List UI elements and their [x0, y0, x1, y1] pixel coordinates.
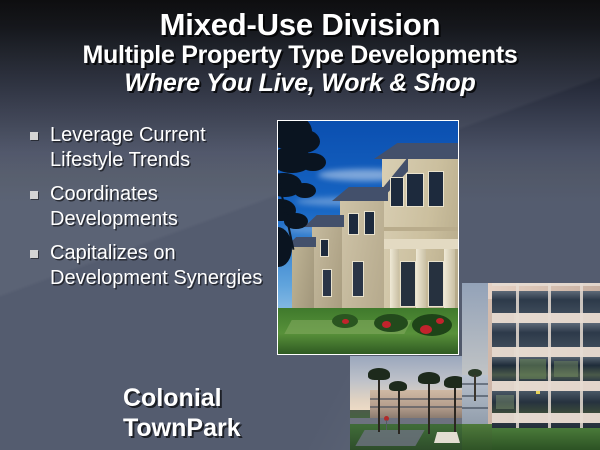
- townhomes-photo: [277, 120, 459, 355]
- photo-spandrel: [492, 347, 600, 357]
- photo-trim: [382, 227, 459, 231]
- photo-porch-beam: [382, 239, 459, 249]
- photo-spandrel: [492, 381, 600, 391]
- photo-flowers: [342, 319, 349, 324]
- palm-fronds: [418, 372, 440, 384]
- photo-window-band: [492, 323, 600, 347]
- palm-tree: [454, 382, 456, 434]
- photo-spandrel: [492, 413, 600, 423]
- photo-shrub: [374, 314, 408, 332]
- photo-window: [320, 239, 329, 257]
- palm-tree: [474, 375, 476, 401]
- title-line-primary: Mixed-Use Division: [0, 8, 600, 42]
- title-line-secondary: Multiple Property Type Developments: [0, 42, 600, 69]
- photo-glass-reflection: [496, 395, 514, 409]
- square-bullet-icon: [30, 191, 38, 199]
- photo-building-far: [312, 225, 342, 311]
- photo-walkway: [355, 430, 424, 446]
- photo-window: [406, 173, 424, 207]
- photo-light: [536, 391, 540, 394]
- photo-glass-reflection: [520, 359, 546, 379]
- bullet-text: Leverage Current Lifestyle Trends: [50, 123, 278, 173]
- palm-fronds: [368, 368, 390, 380]
- sign-post: [386, 420, 387, 430]
- photo-flowers: [382, 321, 391, 328]
- photo-window: [348, 213, 359, 235]
- palm-tree: [378, 374, 380, 432]
- photo-flowers: [436, 318, 444, 324]
- photo-window: [364, 211, 375, 235]
- photo-mullion: [516, 283, 519, 450]
- palm-tree: [398, 386, 400, 434]
- office-building-photo: [462, 283, 600, 450]
- slide-title-block: Mixed-Use Division Multiple Property Typ…: [0, 8, 600, 97]
- caption-line-1: Colonial: [123, 383, 241, 413]
- title-line-tagline: Where You Live, Work & Shop: [0, 69, 600, 97]
- photo-spandrel: [492, 313, 600, 323]
- photo-window-band: [492, 357, 600, 381]
- photo-flowers: [420, 325, 432, 334]
- monument-sign: [434, 432, 460, 443]
- tree-foliage: [294, 183, 316, 198]
- photo-spandrel: [492, 283, 600, 286]
- square-bullet-icon: [30, 132, 38, 140]
- tree-foliage: [300, 153, 326, 171]
- photo-window: [352, 261, 364, 297]
- photo-mullion: [580, 283, 583, 450]
- photo-mullion: [548, 283, 551, 450]
- bullet-text: Coordinates Developments: [50, 182, 278, 232]
- photo-window: [400, 261, 416, 307]
- square-bullet-icon: [30, 250, 38, 258]
- presentation-slide: Mixed-Use Division Multiple Property Typ…: [0, 0, 600, 450]
- photo-lawn: [462, 424, 492, 450]
- project-caption: Colonial TownPark: [123, 383, 241, 443]
- photo-building-far: [292, 245, 314, 313]
- photo-shrub: [412, 314, 452, 336]
- bullet-list: Leverage Current Lifestyle Trends Coordi…: [30, 123, 278, 300]
- photo-window: [428, 171, 444, 207]
- photo-window: [322, 269, 332, 297]
- photo-window: [390, 177, 404, 207]
- list-item: Coordinates Developments: [30, 182, 278, 232]
- caption-line-2: TownPark: [123, 413, 241, 443]
- photo-glass-reflection: [554, 361, 578, 377]
- list-item: Capitalizes on Development Synergies: [30, 241, 278, 291]
- bullet-text: Capitalizes on Development Synergies: [50, 241, 278, 291]
- photo-window: [428, 261, 444, 307]
- photo-window-band: [492, 291, 600, 313]
- list-item: Leverage Current Lifestyle Trends: [30, 123, 278, 173]
- palm-tree: [428, 378, 430, 434]
- palm-fronds: [389, 381, 407, 391]
